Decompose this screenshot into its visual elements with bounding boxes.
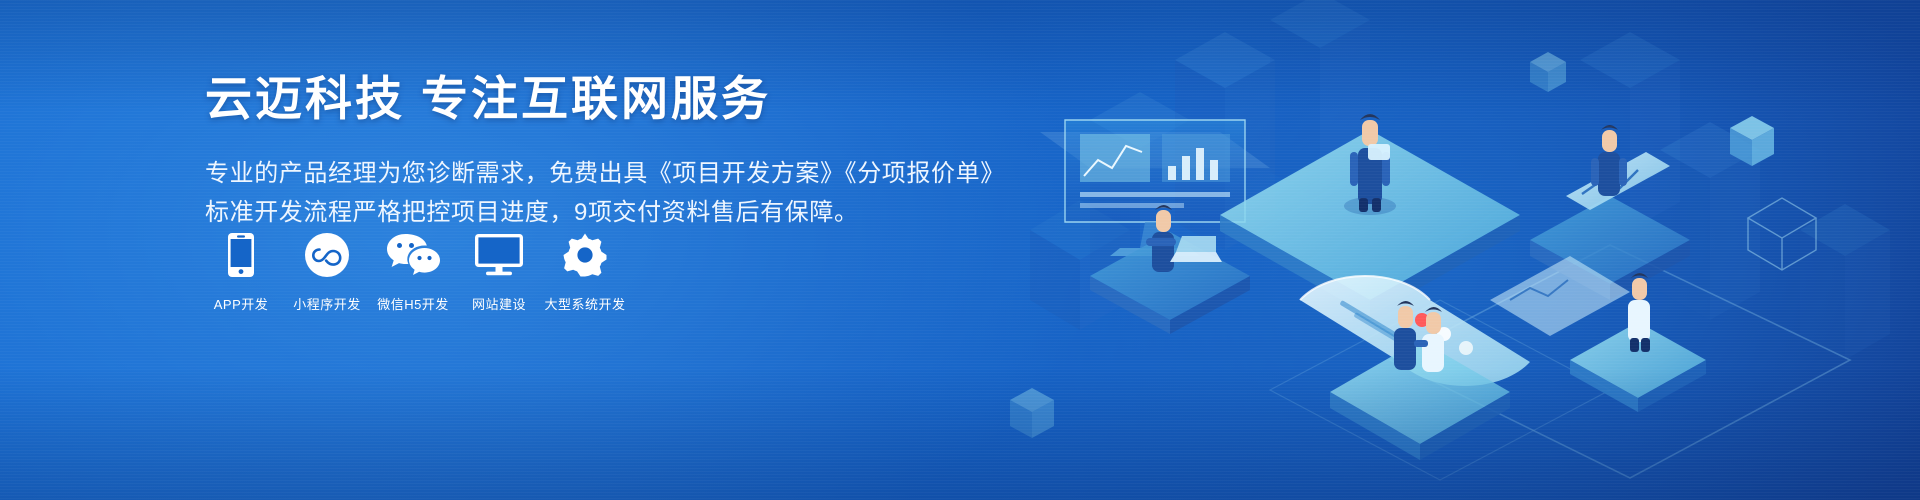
service-item-app[interactable]: APP开发 — [205, 232, 277, 313]
monitor-icon — [475, 232, 523, 278]
hero-copy: 云迈科技 专注互联网服务 专业的产品经理为您诊断需求，免费出具《项目开发方案》《… — [205, 70, 1105, 233]
gear-icon — [563, 232, 607, 278]
hero-illustration — [970, 0, 1920, 500]
subtitle-line-2: 标准开发流程严格把控项目进度，9项交付资料售后有保障。 — [205, 194, 1105, 233]
subtitle-line-1: 专业的产品经理为您诊断需求，免费出具《项目开发方案》《分项报价单》 — [205, 155, 1105, 194]
page-title: 云迈科技 专注互联网服务 — [205, 70, 1105, 129]
service-label: APP开发 — [214, 294, 269, 313]
mobile-phone-icon — [228, 232, 254, 278]
service-item-miniprogram[interactable]: 小程序开发 — [291, 232, 363, 313]
service-label: 小程序开发 — [293, 294, 361, 313]
mini-program-icon — [305, 232, 349, 278]
wechat-icon — [386, 232, 440, 278]
service-label: 网站建设 — [472, 294, 526, 313]
service-item-website[interactable]: 网站建设 — [463, 232, 535, 313]
service-item-large-system[interactable]: 大型系统开发 — [549, 232, 621, 313]
hero-banner: 云迈科技 专注互联网服务 专业的产品经理为您诊断需求，免费出具《项目开发方案》《… — [0, 0, 1920, 500]
service-item-wechat-h5[interactable]: 微信H5开发 — [377, 232, 449, 313]
hero-subtitle: 专业的产品经理为您诊断需求，免费出具《项目开发方案》《分项报价单》 标准开发流程… — [205, 155, 1105, 233]
service-list: APP开发 小程序开发 微信 — [205, 232, 621, 313]
service-label: 大型系统开发 — [545, 294, 626, 313]
service-label: 微信H5开发 — [377, 294, 449, 313]
